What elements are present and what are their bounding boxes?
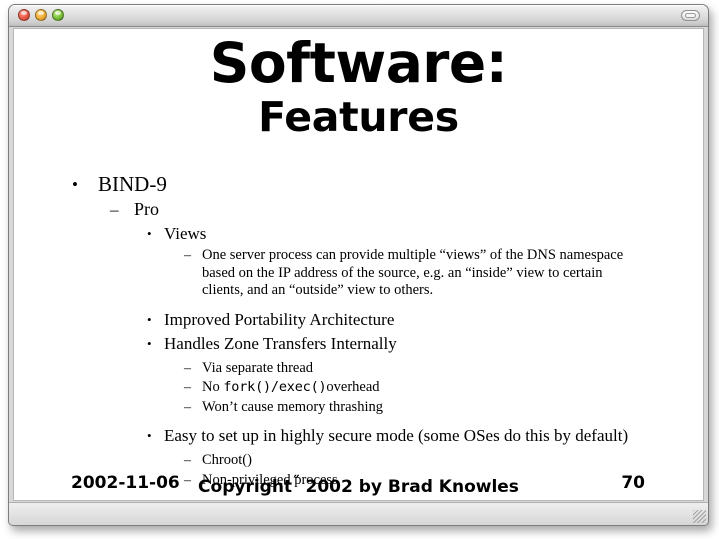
list-item-zone-transfers: • Handles Zone Transfers Internally — [14, 333, 703, 355]
list-item-bind9: • BIND-9 — [14, 172, 703, 197]
close-window-button[interactable] — [18, 9, 30, 21]
window-resize-grip[interactable] — [693, 510, 706, 523]
dash-bullet-icon: – — [184, 379, 191, 397]
list-item-label: One server process can provide multiple … — [202, 247, 643, 300]
dash-bullet-icon: – — [110, 198, 119, 221]
list-item-views-detail: – One server process can provide multipl… — [14, 247, 703, 300]
zone-sub-2-suffix: overhead — [326, 379, 379, 395]
list-item-label: Via separate thread — [202, 360, 643, 378]
list-item-portability: • Improved Portability Architecture — [14, 309, 703, 331]
list-item-label: Won’t cause memory thrashing — [202, 399, 643, 417]
application-window: Software: Features • BIND-9 – Pro • View… — [8, 4, 709, 526]
slide-body: • BIND-9 – Pro • Views – One server proc… — [14, 172, 703, 489]
copyright-symbol-icon: ˝ — [292, 473, 300, 491]
minimize-window-button[interactable] — [35, 9, 47, 21]
list-item-zone-sub-2: – No fork()/exec()overhead — [14, 379, 703, 397]
slide-footer: 2002-11-06 Copyright˝ 2002 by Brad Knowl… — [14, 473, 703, 499]
footer-page-number: 70 — [621, 473, 645, 493]
list-item-label: Improved Portability Architecture — [164, 309, 703, 331]
list-item-secure-mode: • Easy to set up in highly secure mode (… — [14, 425, 703, 447]
window-titlebar[interactable] — [9, 5, 708, 27]
dash-bullet-icon: – — [184, 452, 191, 470]
zoom-window-button[interactable] — [52, 9, 64, 21]
list-item-label: Chroot() — [202, 452, 643, 470]
disc-bullet-icon: • — [147, 309, 152, 331]
list-item-label: Easy to set up in highly secure mode (so… — [164, 425, 643, 447]
window-traffic-lights — [18, 9, 64, 21]
list-item-label: BIND-9 — [98, 172, 703, 197]
slide-content: Software: Features • BIND-9 – Pro • View… — [14, 34, 703, 501]
window-bottom-bar — [9, 502, 708, 525]
list-item-label: No fork()/exec()overhead — [202, 379, 643, 397]
disc-bullet-icon: • — [147, 223, 152, 245]
list-item-zone-sub-3: – Won’t cause memory thrashing — [14, 399, 703, 417]
dash-bullet-icon: – — [184, 399, 191, 417]
slide-page: Software: Features • BIND-9 – Pro • View… — [13, 28, 704, 501]
disc-bullet-icon: • — [72, 172, 78, 197]
list-item-views: • Views — [14, 223, 703, 245]
footer-copyright-text: Copyright — [198, 477, 292, 497]
zone-sub-2-code: fork()/exec() — [223, 379, 326, 395]
dash-bullet-icon: – — [184, 247, 191, 265]
list-item-label: Handles Zone Transfers Internally — [164, 333, 703, 355]
slide-subtitle: Features — [14, 94, 703, 140]
list-item-zone-sub-1: – Via separate thread — [14, 360, 703, 378]
zone-sub-2-prefix: No — [202, 379, 223, 395]
disc-bullet-icon: • — [147, 333, 152, 355]
list-item-label: Pro — [134, 198, 703, 221]
disc-bullet-icon: • — [147, 425, 152, 447]
slide-title: Software: — [14, 34, 703, 92]
list-item-pro: – Pro — [14, 198, 703, 221]
footer-copyright: Copyright˝ 2002 by Brad Knowles — [14, 473, 703, 497]
toolbar-toggle-button[interactable] — [681, 10, 700, 21]
list-item-label: Views — [164, 223, 703, 245]
footer-copyright-owner: 2002 by Brad Knowles — [305, 477, 518, 497]
list-item-secure-sub-1: – Chroot() — [14, 452, 703, 470]
dash-bullet-icon: – — [184, 360, 191, 378]
